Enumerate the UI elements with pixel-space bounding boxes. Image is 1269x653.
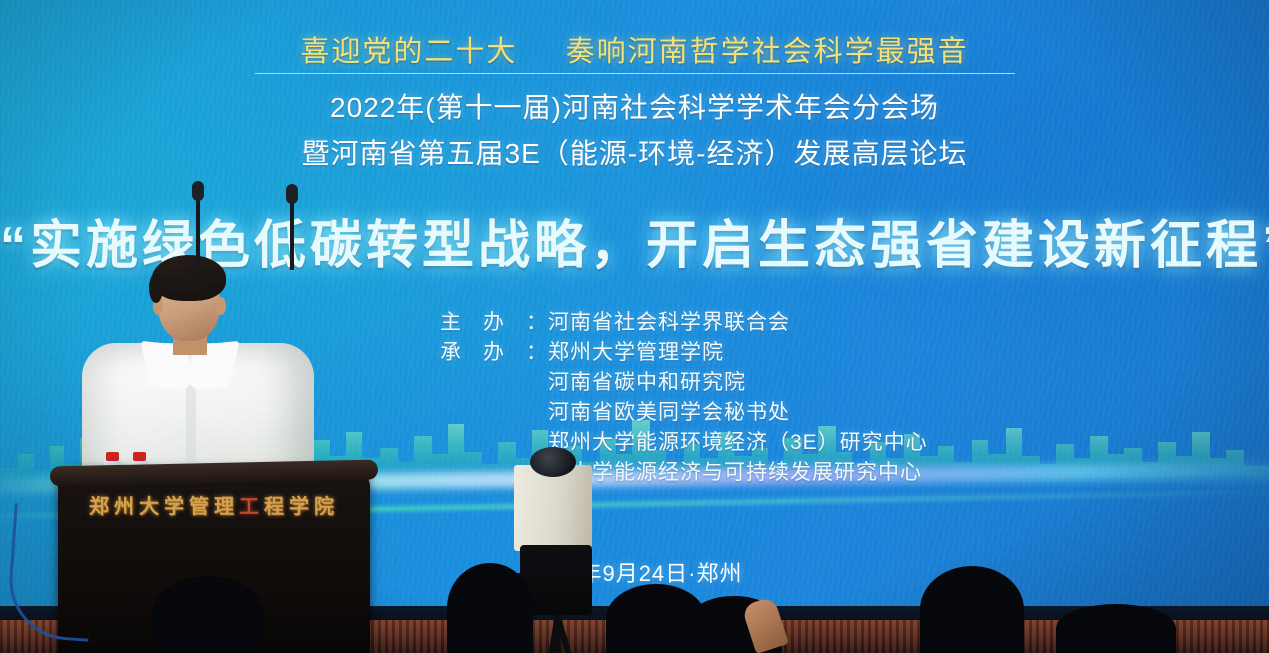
- audience-silhouette: [152, 576, 264, 653]
- cohost-label-char-1: 承: [440, 338, 462, 368]
- bottle-cap: [106, 452, 119, 461]
- co-organizer-item: 河南省欧美同学会秘书处: [548, 398, 1080, 428]
- organizer-label-host: 主 办 ：: [440, 308, 548, 338]
- headline-underline: [255, 73, 1015, 74]
- speaker-ear-right: [216, 297, 226, 315]
- podium-sign-part-1: 郑州大学管理: [89, 496, 239, 518]
- slide-subtitle-line-1: 2022年(第十一届)河南社会科学学术年会分会场: [0, 86, 1269, 126]
- organizer-label-cohost: 承 办 ：: [440, 338, 548, 368]
- audience-silhouette: [920, 566, 1024, 653]
- headline-right-text: 奏响河南哲学社会科学最强音: [566, 36, 969, 68]
- cohost-label-colon: ：: [526, 338, 548, 368]
- bottle-cap: [133, 452, 146, 461]
- audience-silhouette: [1056, 604, 1176, 653]
- slide-headline: 喜迎党的二十大 奏响河南哲学社会科学最强音: [0, 28, 1269, 74]
- speaker-hair: [152, 255, 226, 301]
- headline-left-text: 喜迎党的二十大: [300, 36, 517, 68]
- organizer-row-host: 主 办 ： 河南省社会科学界联合会: [440, 308, 1080, 338]
- microphone-icon: [290, 200, 294, 270]
- organizer-row-cohost: 承 办 ： 郑州大学管理学院: [440, 338, 1080, 368]
- audience-silhouette: [447, 563, 533, 653]
- microphone-head: [286, 184, 298, 204]
- organizer-label-char-2: 办: [483, 308, 505, 338]
- organizer-value-host: 河南省社会科学界联合会: [548, 308, 1080, 338]
- organizer-value-cohost: 郑州大学管理学院: [548, 338, 1080, 368]
- podium-sign-part-2: 工: [239, 496, 264, 518]
- co-organizer-item: 河南省碳中和研究院: [548, 368, 1080, 398]
- organizer-label-colon: ：: [526, 308, 548, 338]
- co-organizer-item: 郑州大学能源环境经济（3E）研究中心: [548, 428, 1080, 458]
- conference-photo: 喜迎党的二十大 奏响河南哲学社会科学最强音 2022年(第十一届)河南社会科学学…: [0, 0, 1269, 653]
- organizer-label-char-1: 主: [440, 308, 462, 338]
- podium-sign-part-3: 程学院: [264, 496, 339, 518]
- co-organizer-item: 京大学能源经济与可持续发展研究中心: [548, 458, 1080, 488]
- camera-sunshade: [514, 465, 592, 551]
- camera-lens: [530, 447, 576, 477]
- podium-sign-text: 郑州大学管理工程学院: [58, 490, 370, 519]
- microphone-icon: [196, 197, 200, 269]
- microphone-head: [192, 181, 204, 201]
- slide-subtitle-line-2: 暨河南省第五届3E（能源-环境-经济）发展高层论坛: [0, 132, 1269, 172]
- cohost-label-char-2: 办: [483, 338, 505, 368]
